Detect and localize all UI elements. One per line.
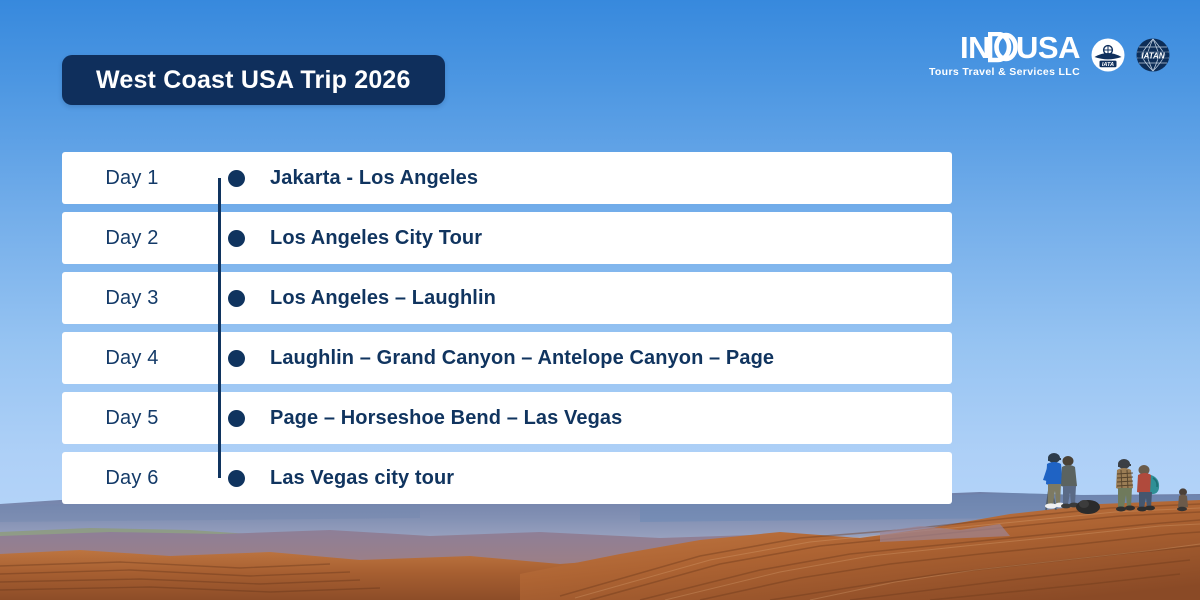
timeline-dot-cell (202, 350, 270, 367)
day-label: Day 4 (62, 347, 202, 370)
timeline-dot-icon (228, 230, 245, 247)
timeline-dot-cell (202, 470, 270, 487)
day-label: Day 1 (62, 167, 202, 190)
iatan-badge-label: IATAN (1141, 51, 1164, 60)
itinerary-list: Day 1 Jakarta - Los Angeles Day 2 Los An… (62, 152, 952, 504)
timeline-dot-cell (202, 170, 270, 187)
day-description: Los Angeles City Tour (270, 227, 482, 250)
poster-canvas: West Coast USA Trip 2026 IN USA Tours Tr… (0, 0, 1200, 600)
timeline-spine (218, 178, 221, 478)
timeline-dot-icon (228, 350, 245, 367)
iata-badge-icon: IATA (1091, 38, 1125, 72)
day-description: Los Angeles – Laughlin (270, 287, 496, 310)
table-row[interactable]: Day 6 Las Vegas city tour (62, 452, 952, 504)
logo-tagline: Tours Travel & Services LLC (929, 66, 1080, 78)
day-description: Page – Horseshoe Bend – Las Vegas (270, 407, 622, 430)
table-row[interactable]: Day 5 Page – Horseshoe Bend – Las Vegas (62, 392, 952, 444)
iata-badge-label: IATA (1102, 62, 1114, 68)
day-description: Las Vegas city tour (270, 467, 454, 490)
poster-title-banner: West Coast USA Trip 2026 (62, 55, 445, 105)
timeline-dot-icon (228, 170, 245, 187)
page-title: West Coast USA Trip 2026 (96, 66, 411, 95)
iatan-badge-icon: IATAN (1136, 38, 1170, 72)
timeline-dot-cell (202, 290, 270, 307)
day-label: Day 2 (62, 227, 202, 250)
table-row[interactable]: Day 2 Los Angeles City Tour (62, 212, 952, 264)
logo-word-part2: USA (1016, 32, 1080, 63)
timeline-dot-icon (228, 410, 245, 427)
logo-wordmark: IN USA (960, 32, 1080, 63)
company-logo: IN USA Tours Travel & Services LLC IATA (929, 32, 1170, 78)
table-row[interactable]: Day 3 Los Angeles – Laughlin (62, 272, 952, 324)
day-description: Laughlin – Grand Canyon – Antelope Canyo… (270, 347, 774, 370)
day-description: Jakarta - Los Angeles (270, 167, 478, 190)
timeline-dot-icon (228, 470, 245, 487)
day-label: Day 5 (62, 407, 202, 430)
timeline-dot-icon (228, 290, 245, 307)
table-row[interactable]: Day 4 Laughlin – Grand Canyon – Antelope… (62, 332, 952, 384)
logo-do-monogram-icon (988, 32, 1018, 63)
timeline-dot-cell (202, 410, 270, 427)
logo-text-group: IN USA Tours Travel & Services LLC (929, 32, 1080, 78)
day-label: Day 6 (62, 467, 202, 490)
hikers-figures (1020, 448, 1200, 520)
timeline-dot-cell (202, 230, 270, 247)
day-label: Day 3 (62, 287, 202, 310)
logo-word-part1: IN (960, 32, 990, 63)
table-row[interactable]: Day 1 Jakarta - Los Angeles (62, 152, 952, 204)
